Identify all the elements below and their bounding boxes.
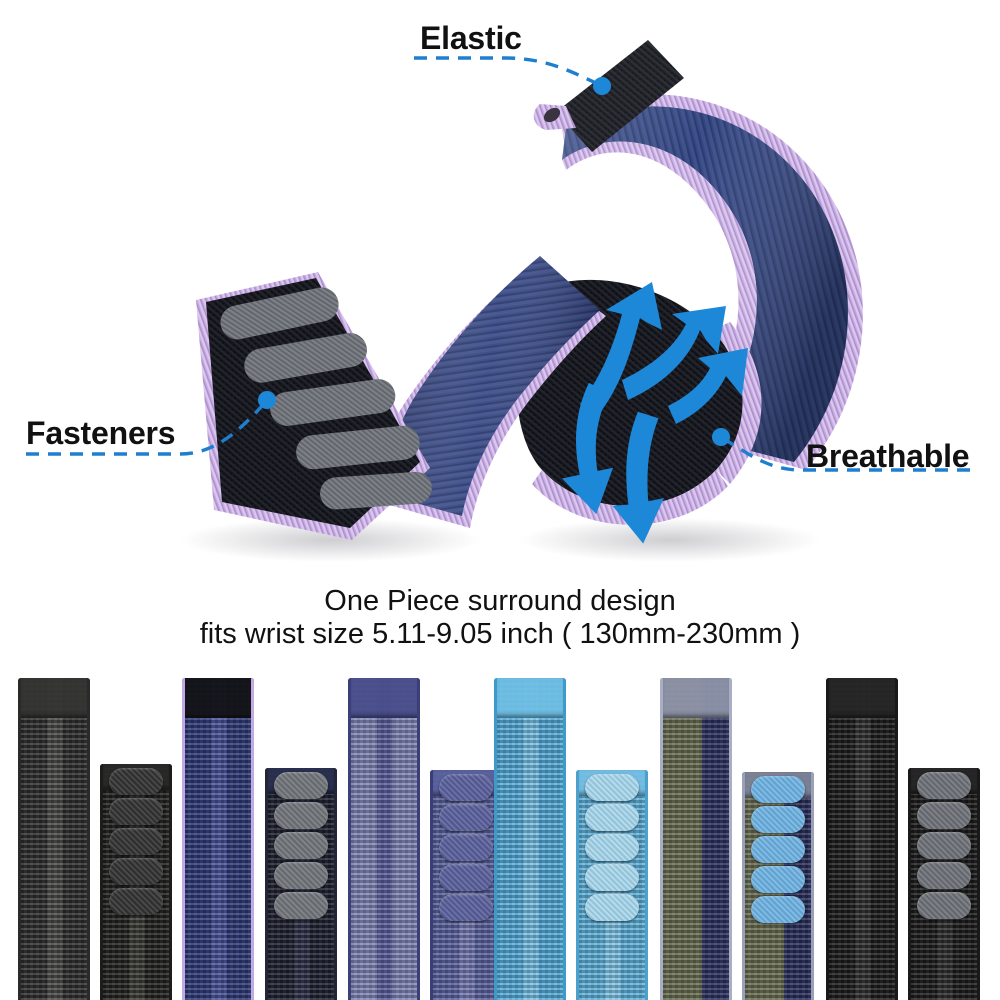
band-olive-navy-short-pills[interactable]: [742, 772, 814, 1000]
band-binding-edge: [251, 678, 254, 1000]
band-tip: [182, 678, 254, 718]
band-olive-navy-tall[interactable]: [660, 678, 732, 1000]
band-fastener-pill: [274, 892, 327, 919]
band-fastener-pill: [917, 832, 970, 859]
band-fastener-pill: [274, 802, 327, 829]
band-weave: [826, 678, 898, 1000]
band-fastener-pill: [109, 798, 162, 825]
band-fastener-pill: [585, 774, 638, 801]
band-periwinkle-tall[interactable]: [348, 678, 420, 1000]
band-fastener-pill: [751, 896, 804, 923]
band-fastener-pill: [917, 862, 970, 889]
band-fastener-pill: [751, 866, 804, 893]
band-binding-edge: [417, 678, 420, 1000]
band-tip: [18, 678, 90, 718]
band-black-tall-plain[interactable]: [826, 678, 898, 1000]
band-periwinkle-short-pills[interactable]: [430, 770, 502, 1000]
band-fastener-pill: [439, 864, 492, 891]
infographic-stage: Elastic Fasteners Breathable One Piece s…: [0, 0, 1000, 1000]
band-lightblue-short-pills[interactable]: [576, 770, 648, 1000]
band-fastener-pill-group: [100, 768, 172, 1000]
band-fastener-pill: [109, 858, 162, 885]
band-fastener-pill: [917, 892, 970, 919]
band-fastener-pill-group: [265, 772, 337, 1000]
fastener-panel: [196, 272, 433, 540]
band-fastener-pill: [274, 862, 327, 889]
band-fastener-pill: [917, 802, 970, 829]
band-binding-edge: [494, 678, 497, 1000]
band-fastener-pill: [751, 806, 804, 833]
band-black-gray-tall[interactable]: [18, 678, 90, 1000]
band-fastener-pill-group: [430, 774, 502, 1000]
color-variant-swatch-row: [0, 670, 1000, 1000]
hero-product-illustration: [0, 0, 1000, 575]
band-binding-edge: [895, 678, 898, 1000]
band-black-short-fasteners[interactable]: [100, 764, 172, 1000]
band-fastener-pill: [751, 836, 804, 863]
callout-label-elastic: Elastic: [420, 20, 522, 57]
band-weave: [660, 678, 732, 1000]
band-binding-edge: [87, 678, 90, 1000]
band-fastener-pill-group: [742, 776, 814, 1000]
band-fastener-pill: [274, 772, 327, 799]
band-fastener-pill: [585, 864, 638, 891]
shadow-right: [520, 518, 820, 562]
band-weave: [182, 678, 254, 1000]
band-black-short-gray-pills[interactable]: [908, 768, 980, 1000]
caption-line-1: One Piece surround design: [0, 585, 1000, 618]
caption-block: One Piece surround design fits wrist siz…: [0, 585, 1000, 651]
band-fastener-pill-group: [576, 774, 648, 1000]
band-fastener-pill: [109, 828, 162, 855]
callout-label-fasteners: Fasteners: [26, 415, 175, 452]
band-fastener-pill-group: [908, 772, 980, 1000]
band-weave: [494, 678, 566, 1000]
band-navy-lavender-tall[interactable]: [182, 678, 254, 1000]
band-binding-edge: [348, 678, 351, 1000]
band-binding-edge: [18, 678, 21, 1000]
band-fastener-pill: [585, 894, 638, 921]
band-weave: [18, 678, 90, 1000]
band-binding-edge: [729, 678, 732, 1000]
band-fastener-pill: [585, 834, 638, 861]
band-fastener-pill: [439, 834, 492, 861]
band-fastener-pill: [109, 768, 162, 795]
band-binding-edge: [826, 678, 829, 1000]
band-binding-edge: [563, 678, 566, 1000]
callout-label-breathable: Breathable: [806, 438, 969, 475]
band-binding-edge: [182, 678, 185, 1000]
band-binding-edge: [660, 678, 663, 1000]
band-fastener-pill: [751, 776, 804, 803]
band-fastener-pill: [439, 804, 492, 831]
band-fastener-pill: [917, 772, 970, 799]
band-fastener-pill: [439, 894, 492, 921]
band-tip: [348, 678, 420, 718]
band-tip: [494, 678, 566, 718]
band-fastener-pill: [109, 888, 162, 915]
band-black-navy-short-pills[interactable]: [265, 768, 337, 1000]
band-artwork: [0, 0, 1000, 575]
band-fastener-pill: [274, 832, 327, 859]
band-fastener-pill: [439, 774, 492, 801]
band-fastener-pill: [585, 804, 638, 831]
band-lightblue-tall[interactable]: [494, 678, 566, 1000]
band-tip: [660, 678, 732, 718]
caption-line-2: fits wrist size 5.11-9.05 inch ( 130mm-2…: [0, 618, 1000, 651]
band-weave: [348, 678, 420, 1000]
band-tip: [826, 678, 898, 718]
